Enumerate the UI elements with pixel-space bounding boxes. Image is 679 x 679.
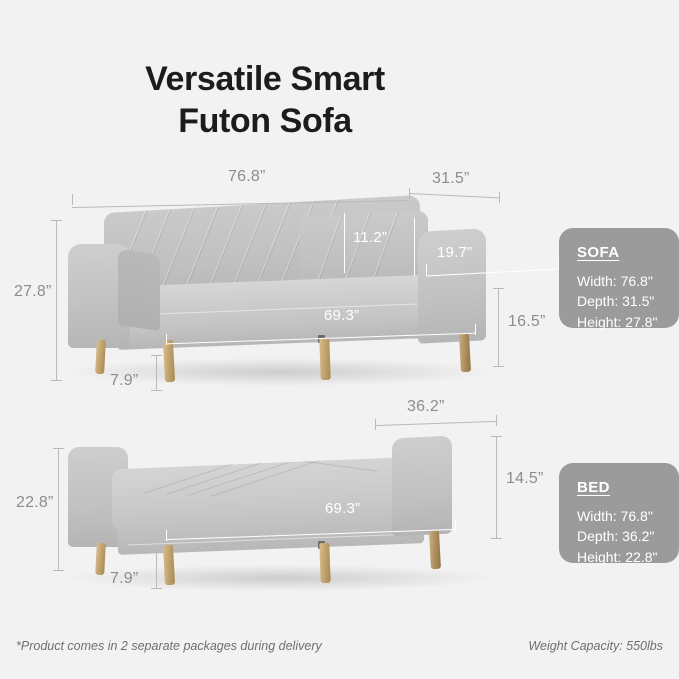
sofa-leg-front-left bbox=[95, 340, 106, 374]
sofa-height-tick-top bbox=[51, 220, 62, 221]
bed-leg-mid-left bbox=[163, 545, 175, 585]
sofa-height-label: 27.8” bbox=[14, 283, 51, 301]
sofa-card-depth: Depth: 31.5" bbox=[577, 291, 663, 311]
sofa-left-arm-inner bbox=[118, 249, 160, 331]
sofa-height-line bbox=[56, 220, 57, 380]
sofa-leg-front-right bbox=[459, 334, 471, 372]
bed-sleep-tick-left bbox=[166, 530, 167, 541]
sofa-illustration bbox=[0, 190, 560, 400]
bed-platform-height-label: 14.5” bbox=[506, 470, 543, 488]
sofa-leg-mid-left bbox=[163, 340, 175, 382]
bed-card-width: Width: 76.8" bbox=[577, 506, 663, 526]
sofa-backrest-height-label: 11.2” bbox=[353, 229, 387, 246]
sofa-arm-tick-left bbox=[426, 264, 427, 275]
bed-height-line bbox=[58, 448, 59, 570]
sofa-depth-tick-right bbox=[499, 192, 500, 203]
bed-card-height: Height: 22.8" bbox=[577, 547, 663, 567]
bed-depth-tick-left bbox=[375, 419, 376, 430]
sofa-leg-tick-bottom bbox=[151, 390, 162, 391]
sofa-width-tick-left bbox=[72, 194, 73, 205]
bed-platform-height-line bbox=[496, 436, 497, 538]
bed-sleep-width-label: 69.3” bbox=[325, 500, 360, 517]
sofa-leg-height-line bbox=[156, 355, 157, 390]
sofa-leg-mid-right bbox=[319, 338, 330, 380]
bed-platform-tick-bottom bbox=[491, 538, 502, 539]
bed-height-tick-bottom bbox=[53, 570, 64, 571]
sofa-card-title: SOFA bbox=[577, 244, 663, 261]
sofa-seat-width-label: 69.3” bbox=[324, 307, 359, 324]
sofa-card-width: Width: 76.8" bbox=[577, 271, 663, 291]
sofa-backrest-line-left bbox=[344, 213, 345, 273]
sofa-seat-height-tick-bottom bbox=[493, 366, 504, 367]
sofa-seat-height-tick-top bbox=[493, 288, 504, 289]
sofa-card-height: Height: 27.8" bbox=[577, 312, 663, 332]
sofa-width-label: 76.8” bbox=[228, 168, 265, 186]
bed-right-arm bbox=[392, 435, 452, 536]
sofa-seat-width-tick-left bbox=[166, 334, 167, 345]
sofa-arm-depth-label: 19.7” bbox=[437, 244, 472, 261]
bed-leg-tick-bottom bbox=[151, 588, 162, 589]
bed-depth-label: 36.2” bbox=[407, 398, 444, 416]
bed-depth-tick-right bbox=[496, 415, 497, 426]
bed-info-card: BED Width: 76.8" Depth: 36.2" Height: 22… bbox=[559, 463, 679, 563]
sofa-seat-height-label: 16.5” bbox=[508, 313, 545, 331]
bed-height-tick-top bbox=[53, 448, 64, 449]
bed-leg-front-right bbox=[429, 531, 441, 569]
bed-leg-height-label: 7.9” bbox=[110, 570, 138, 588]
sofa-info-card: SOFA Width: 76.8" Depth: 31.5" Height: 2… bbox=[559, 228, 679, 328]
bed-card-depth: Depth: 36.2" bbox=[577, 526, 663, 546]
title-line-2: Futon Sofa bbox=[0, 100, 530, 142]
sofa-height-tick-bottom bbox=[51, 380, 62, 381]
sofa-seat-width-tick-right bbox=[475, 324, 476, 335]
product-dimension-diagram: Versatile Smart Futon Sofa bbox=[0, 0, 679, 679]
title-line-1: Versatile Smart bbox=[145, 60, 385, 98]
page-title: Versatile Smart Futon Sofa bbox=[0, 58, 530, 142]
bed-leg-tick-top bbox=[151, 552, 162, 553]
footer-weight-capacity: Weight Capacity: 550lbs bbox=[528, 639, 663, 653]
bed-height-label: 22.8” bbox=[16, 494, 53, 512]
bed-leg-mid-right bbox=[319, 543, 330, 583]
sofa-leg-tick-top bbox=[151, 355, 162, 356]
bed-illustration bbox=[0, 425, 560, 600]
bed-leg-height-line bbox=[156, 552, 157, 588]
sofa-seat-height-line bbox=[498, 288, 499, 366]
sofa-backrest-line-right bbox=[414, 218, 415, 276]
footer-note: *Product comes in 2 separate packages du… bbox=[16, 639, 322, 653]
bed-card-title: BED bbox=[577, 479, 663, 496]
sofa-depth-label: 31.5” bbox=[432, 170, 469, 188]
sofa-leg-height-label: 7.9” bbox=[110, 372, 138, 390]
bed-sleep-tick-right bbox=[455, 520, 456, 531]
bed-leg-front-left bbox=[95, 543, 106, 575]
bed-platform-tick-top bbox=[491, 436, 502, 437]
